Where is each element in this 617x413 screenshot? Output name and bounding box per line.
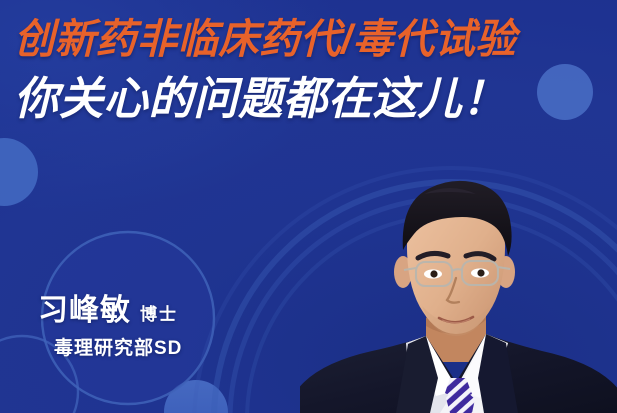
- speaker-name-row: 习峰敏 博士: [38, 296, 182, 326]
- promo-poster: 创新药非临床药代/毒代试验 你关心的问题都在这儿！ 习峰敏 博士 毒理研究部SD: [0, 0, 617, 413]
- decor-circle-left-edge: [0, 138, 38, 206]
- speaker-name: 习峰敏: [38, 296, 131, 326]
- speaker-info-block: 习峰敏 博士 毒理研究部SD: [38, 296, 182, 358]
- headline-line-2: 你关心的问题都在这儿！: [14, 75, 601, 122]
- speaker-portrait: [300, 150, 617, 413]
- headline-block: 创新药非临床药代/毒代试验 你关心的问题都在这儿！: [14, 18, 610, 122]
- speaker-department: 毒理研究部SD: [54, 339, 182, 358]
- headline-line-1: 创新药非临床药代/毒代试验: [14, 18, 601, 61]
- speaker-degree: 博士: [140, 306, 178, 323]
